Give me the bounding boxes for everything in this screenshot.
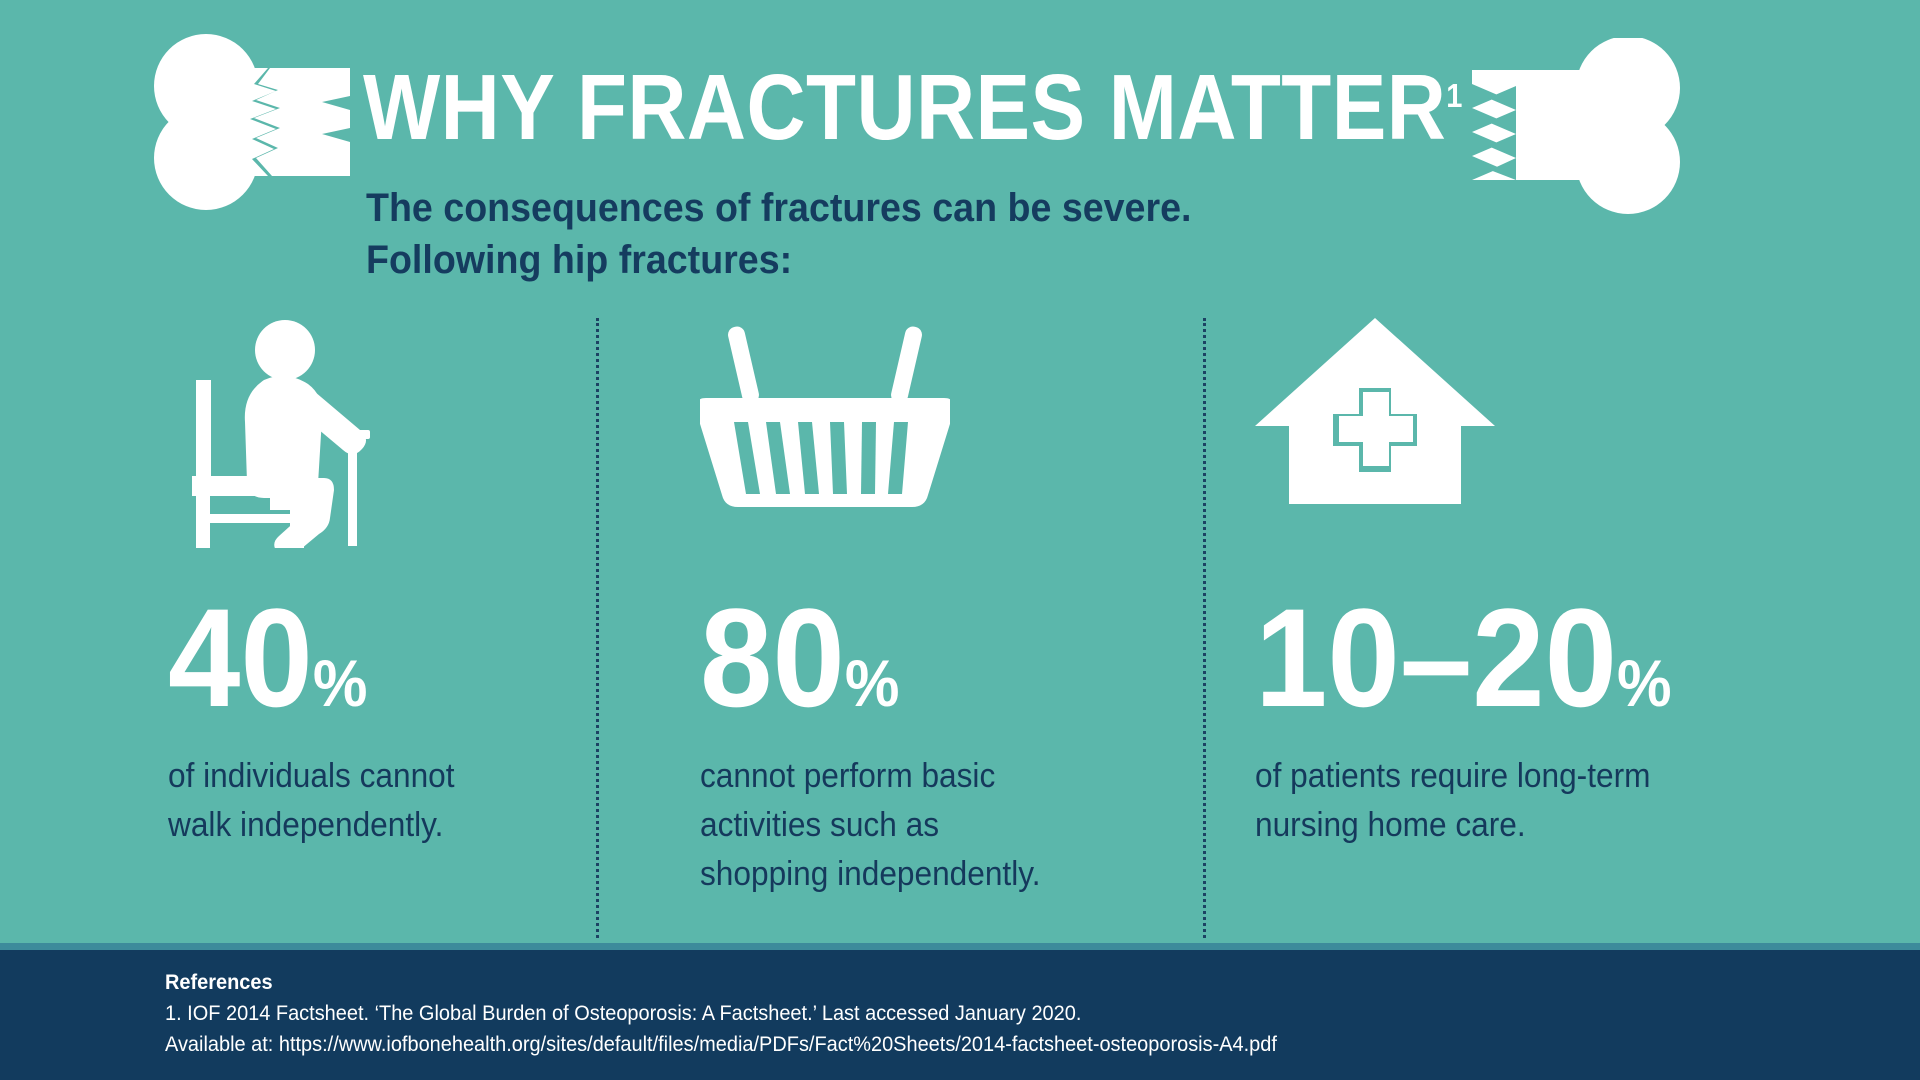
- page-title-text: WHY FRACTURES MATTER: [363, 55, 1446, 159]
- reference-url: Available at: https://www.iofbonehealth.…: [165, 1029, 1277, 1060]
- stat-unit: %: [1617, 646, 1672, 720]
- header: WHY FRACTURES MATTER1 The consequences o…: [0, 0, 1920, 320]
- stat-caption: of patients require long-term nursing ho…: [1255, 752, 1650, 850]
- nursing-home-icon: [1255, 318, 1725, 568]
- stat-caption: of individuals cannot walk independently…: [168, 752, 455, 850]
- subtitle-line-2: Following hip fractures:: [366, 234, 1191, 286]
- subtitle: The consequences of fractures can be sev…: [366, 182, 1191, 286]
- seated-person-with-cane-icon: [160, 318, 580, 568]
- stat-value: 80%: [700, 588, 899, 753]
- stat-number: 40: [168, 579, 313, 736]
- stat-value: 40%: [168, 588, 367, 753]
- stat-column-nursing-home: 10–20% of patients require long-term nur…: [1255, 318, 1725, 568]
- stat-unit: %: [845, 646, 900, 720]
- subtitle-line-1: The consequences of fractures can be sev…: [366, 182, 1191, 234]
- stat-column-shopping: 80% cannot perform basic activities such…: [700, 318, 1130, 568]
- broken-bone-icon: [1472, 38, 1682, 216]
- column-divider: [596, 318, 599, 938]
- shopping-basket-icon: [700, 318, 1130, 568]
- stat-value: 10–20%: [1255, 588, 1672, 753]
- page-title: WHY FRACTURES MATTER1: [363, 48, 1462, 155]
- stat-unit: %: [313, 646, 368, 720]
- page-title-superscript: 1: [1446, 77, 1462, 114]
- stat-number: 80: [700, 579, 845, 736]
- broken-bone-icon: [150, 32, 350, 212]
- stat-caption: cannot perform basic activities such as …: [700, 752, 1040, 899]
- references-footer: References 1. IOF 2014 Factsheet. ‘The G…: [0, 943, 1920, 1080]
- column-divider: [1203, 318, 1206, 938]
- stats-section: 40% of individuals cannot walk independe…: [0, 318, 1920, 948]
- stat-number: 10–20: [1255, 579, 1617, 736]
- references-heading: References: [165, 968, 1277, 998]
- reference-item-1: 1. IOF 2014 Factsheet. ‘The Global Burde…: [165, 998, 1277, 1029]
- stat-column-walking: 40% of individuals cannot walk independe…: [160, 318, 580, 568]
